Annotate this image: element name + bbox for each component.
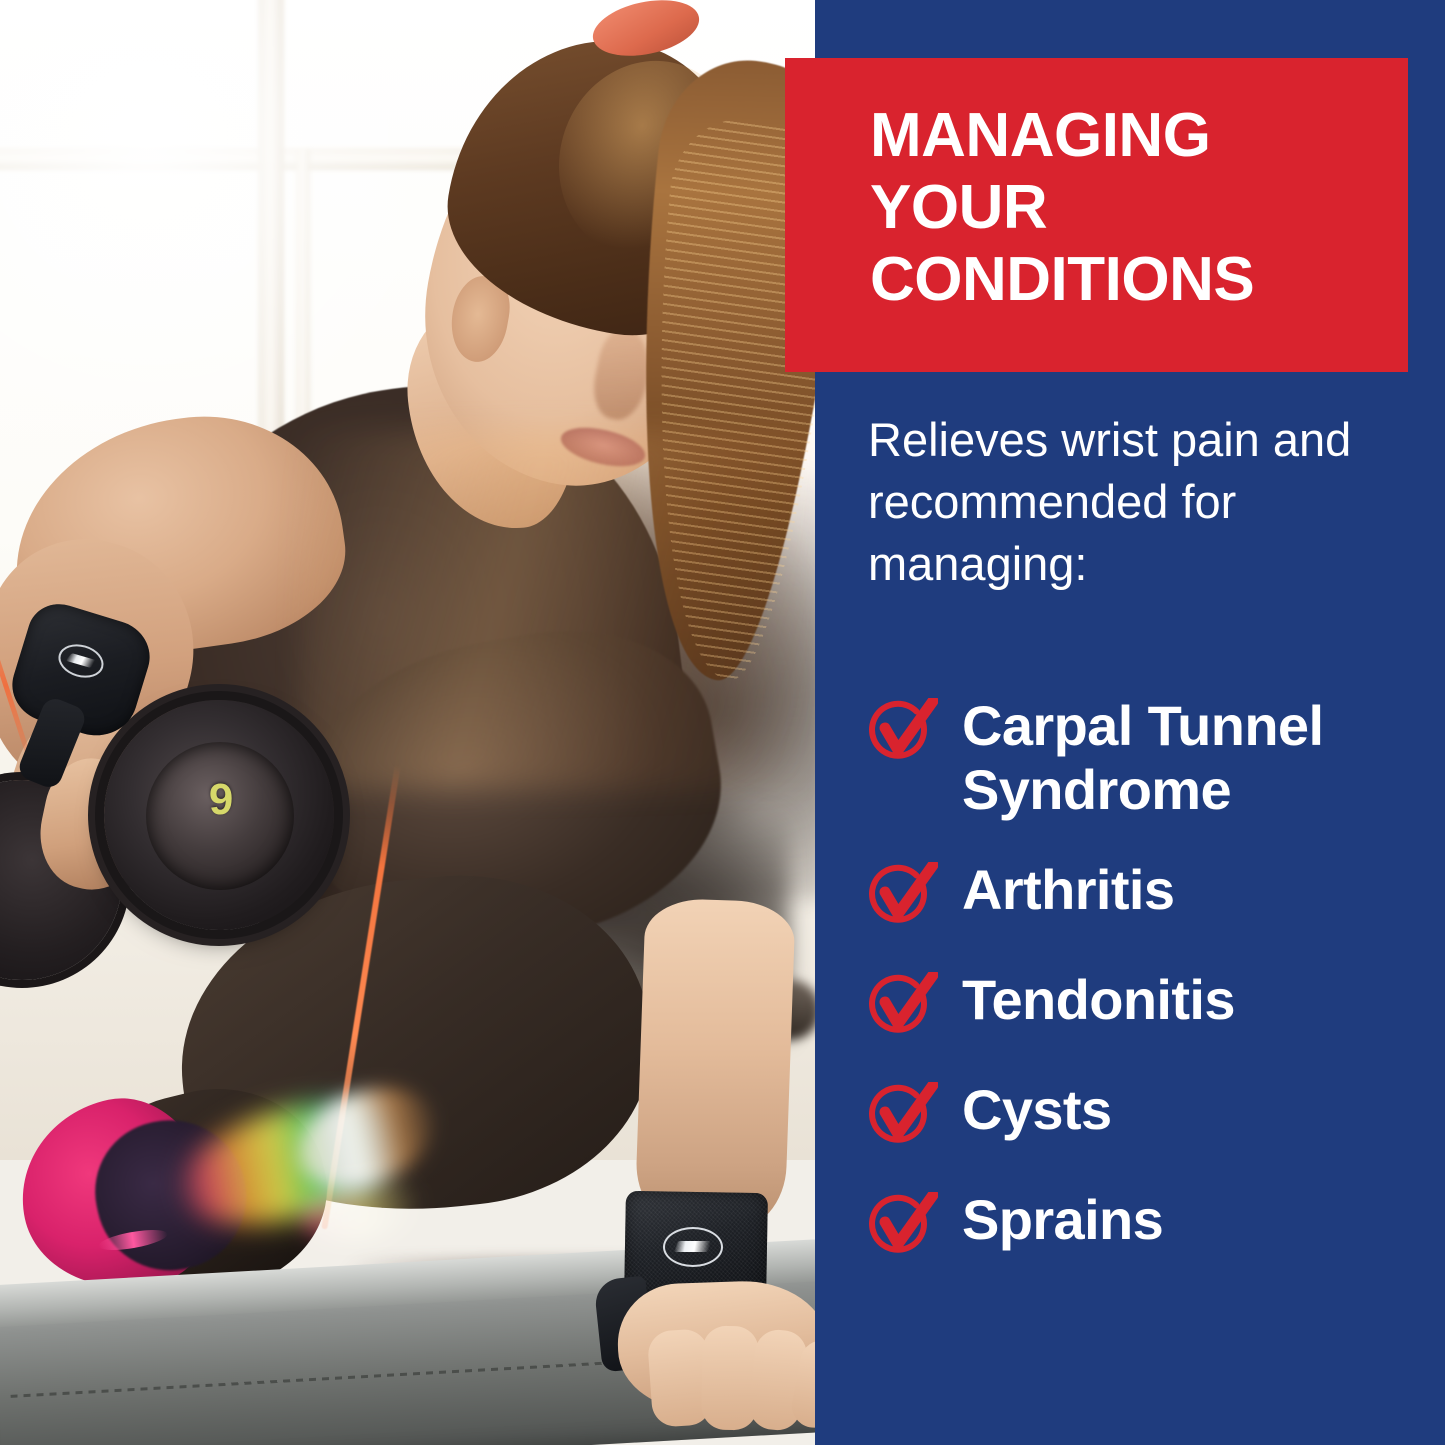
condition-item: Cysts: [864, 1078, 1424, 1152]
title-line-2: YOUR: [870, 173, 1047, 242]
athlete-forearm-right: [634, 897, 795, 1232]
sun-flare-beam: [300, 430, 816, 790]
check-circle-icon: [864, 1082, 938, 1152]
check-circle-icon: [864, 1192, 938, 1262]
title-line-1: MANAGING: [870, 101, 1210, 170]
title-banner: MANAGING YOUR CONDITIONS: [785, 58, 1408, 372]
check-circle-icon: [864, 972, 938, 1042]
subtitle-text: Relieves wrist pain and recommended for …: [868, 409, 1388, 595]
condition-label: Sprains: [962, 1188, 1163, 1252]
condition-item: Sprains: [864, 1188, 1424, 1262]
condition-item: Carpal Tunnel Syndrome: [864, 694, 1424, 822]
product-feature-image: 6 MANAGING YOUR CONDITIONS Relieves wris…: [0, 0, 1445, 1445]
brand-oval-logo-right: [663, 1227, 723, 1267]
lifestyle-photo: 6: [0, 0, 816, 1445]
condition-label: Cysts: [962, 1078, 1112, 1142]
condition-item: Tendonitis: [864, 968, 1424, 1042]
condition-label: Tendonitis: [962, 968, 1235, 1032]
check-circle-icon: [864, 698, 938, 768]
dumbbell-weight-label: 6: [196, 770, 246, 826]
title-line-3: CONDITIONS: [870, 245, 1254, 314]
condition-label: Carpal Tunnel Syndrome: [962, 694, 1402, 822]
condition-item: Arthritis: [864, 858, 1424, 932]
check-circle-icon: [864, 862, 938, 932]
condition-label: Arthritis: [962, 858, 1174, 922]
conditions-list: Carpal Tunnel SyndromeArthritisTendoniti…: [864, 694, 1424, 1262]
page-title: MANAGING YOUR CONDITIONS: [870, 100, 1368, 316]
